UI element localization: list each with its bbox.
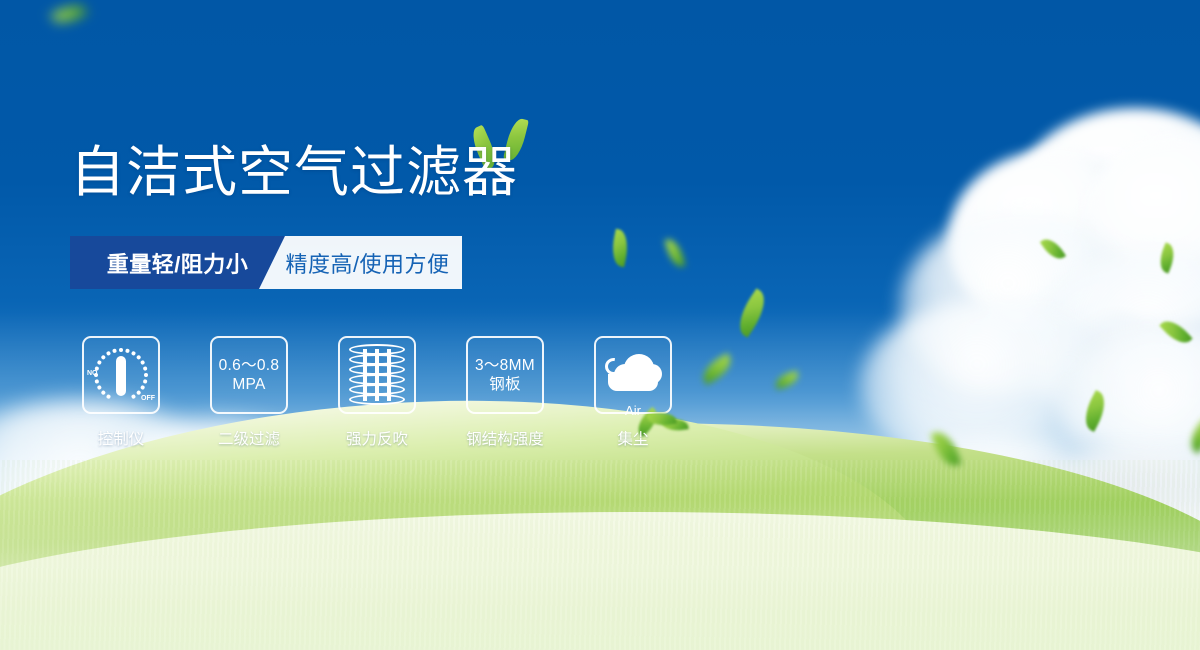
dial-label-off: OFF [141,395,155,402]
subtitle-right-text: 精度高/使用方便 [271,247,449,279]
feature-item-dust[interactable]: Air 集尘 [582,336,684,449]
leaf-icon [50,0,88,29]
leaf-icon [608,229,631,268]
subtitle-left-text: 重量轻/阻力小 [107,247,249,279]
control-dial-icon: NO OFF [88,344,154,406]
promo-banner: 自洁式空气过滤器 重量轻/阻力小 精度高/使用方便 [0,0,1200,650]
pressure-value-line1: 0.6～0.8 [219,356,280,375]
dial-label-no: NO [87,370,98,377]
feature-list: NO OFF 控制仪 0.6～0.8 MPA 二级过滤 [70,336,684,449]
subtitle-right-segment: 精度高/使用方便 [259,236,462,289]
pressure-value-line2: MPA [232,375,265,394]
feature-item-control[interactable]: NO OFF 控制仪 [70,336,172,449]
feature-item-pressure[interactable]: 0.6～0.8 MPA 二级过滤 [198,336,300,449]
feature-label: 强力反吹 [346,427,408,449]
feature-label: 控制仪 [98,427,145,449]
feature-label: 集尘 [617,427,648,449]
steel-value-line1: 3～8MM [475,356,535,375]
feature-label: 钢结构强度 [466,427,544,449]
leaf-icon [774,371,800,390]
air-cloud-icon: Air [602,348,664,402]
leaf-icon [665,237,686,269]
feature-icon-box [338,336,416,414]
feature-label: 二级过滤 [218,427,280,449]
feature-icon-box: 0.6～0.8 MPA [210,336,288,414]
leaf-icon [698,353,736,385]
subtitle-left-segment: 重量轻/阻力小 [70,236,285,289]
dial-pointer [116,356,126,396]
feature-item-steel[interactable]: 3～8MM 钢板 钢结构强度 [454,336,556,449]
feature-icon-box: Air [594,336,672,414]
feature-icon-box: NO OFF [82,336,160,414]
page-title: 自洁式空气过滤器 [70,141,518,203]
feature-icon-box: 3～8MM 钢板 [466,336,544,414]
leaf-icon [731,288,773,337]
grass-sheen [0,500,1200,650]
filter-stack-icon [349,344,405,406]
feature-item-blowback[interactable]: 强力反吹 [326,336,428,449]
subtitle-bar: 重量轻/阻力小 精度高/使用方便 [70,236,462,289]
steel-value-line2: 钢板 [489,375,521,394]
